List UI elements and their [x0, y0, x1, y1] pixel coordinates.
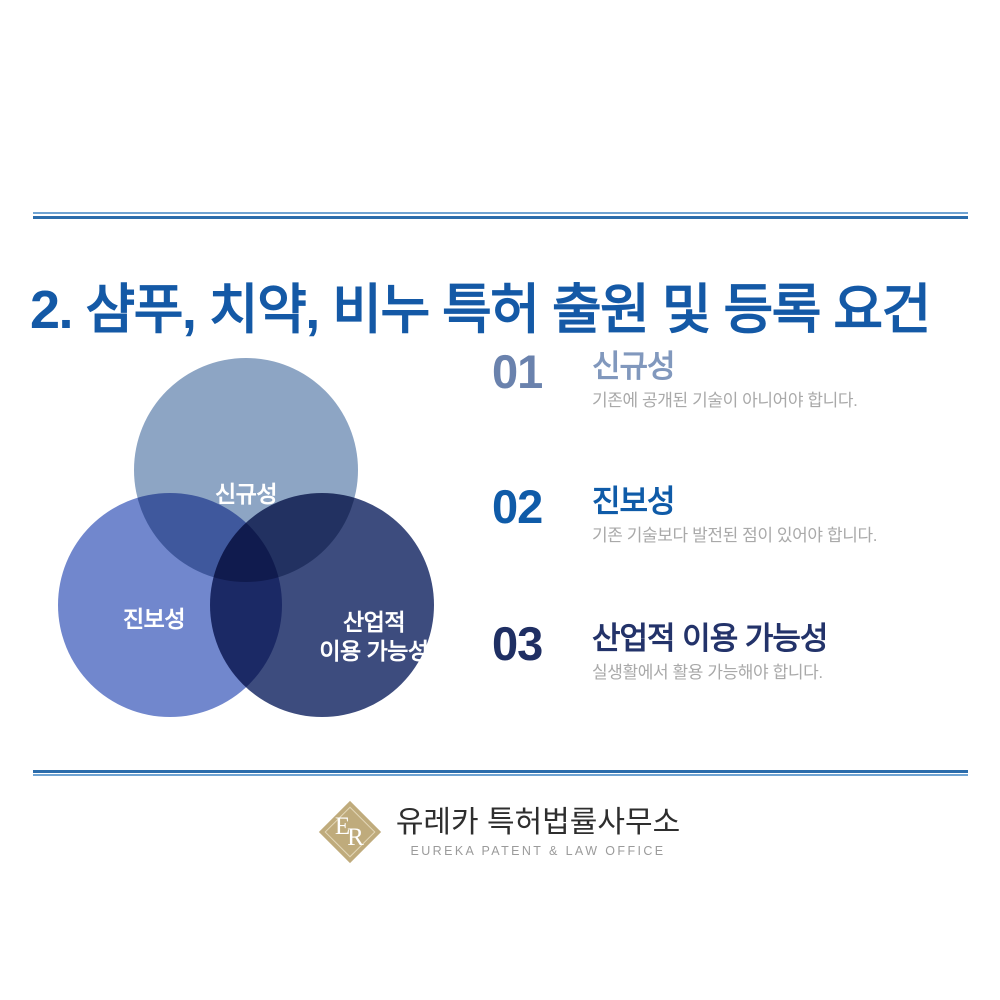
logo-text-block: 유레카 특허법률사무소 EUREKA PATENT & LAW OFFICE	[396, 806, 680, 858]
footer-logo: ER 유레카 특허법률사무소 EUREKA PATENT & LAW OFFIC…	[0, 802, 1000, 862]
venn-circle-industrial: 산업적이용 가능성	[210, 493, 434, 717]
divider-bottom	[33, 770, 968, 779]
venn-label-industrial: 산업적이용 가능성	[293, 592, 402, 650]
divider-bottom-thin-rule	[33, 774, 968, 776]
list-item-number: 02	[492, 483, 592, 530]
divider-bottom-thick-rule	[33, 770, 968, 773]
list-item-title: 진보성	[592, 484, 962, 520]
slide-canvas: 2. 샴푸, 치약, 비누 특허 출원 및 등록 요건 신규성 진보성 산업적이…	[0, 0, 1000, 1000]
list-item-body: 진보성 기존 기술보다 발전된 점이 있어야 합니다.	[592, 483, 962, 547]
divider-top	[33, 212, 968, 221]
list-item-title: 산업적 이용 가능성	[592, 621, 962, 657]
list-item-novelty: 01 신규성 기존에 공개된 기술이 아니어야 합니다.	[492, 348, 962, 458]
list-item-body: 신규성 기존에 공개된 기술이 아니어야 합니다.	[592, 348, 962, 412]
logo-english-name: EUREKA PATENT & LAW OFFICE	[396, 844, 680, 858]
list-item-number: 01	[492, 348, 592, 395]
venn-label-novelty: 신규성	[215, 480, 277, 509]
venn-label-industrial-line1: 산업적	[343, 609, 405, 635]
venn-label-inventive: 진보성	[123, 605, 185, 634]
page-title: 2. 샴푸, 치약, 비누 특허 출원 및 등록 요건	[30, 279, 970, 341]
divider-top-thick-rule	[33, 216, 968, 219]
logo-monogram: ER	[320, 802, 380, 862]
list-item-description: 기존 기술보다 발전된 점이 있어야 합니다.	[592, 525, 962, 547]
monogram-letter-r: R	[347, 824, 364, 852]
venn-diagram: 신규성 진보성 산업적이용 가능성	[50, 345, 450, 745]
logo-korean-name: 유레카 특허법률사무소	[396, 806, 680, 839]
list-item-inventive-step: 02 진보성 기존 기술보다 발전된 점이 있어야 합니다.	[492, 483, 962, 593]
diamond-logo-icon: ER	[320, 802, 380, 862]
list-item-description: 실생활에서 활용 가능해야 합니다.	[592, 662, 962, 684]
divider-top-thin-rule	[33, 212, 968, 214]
list-item-industrial-applicability: 03 산업적 이용 가능성 실생활에서 활용 가능해야 합니다.	[492, 620, 962, 730]
list-item-number: 03	[492, 620, 592, 667]
venn-label-industrial-line2: 이용 가능성	[319, 638, 428, 664]
list-item-body: 산업적 이용 가능성 실생활에서 활용 가능해야 합니다.	[592, 620, 962, 684]
list-item-description: 기존에 공개된 기술이 아니어야 합니다.	[592, 390, 962, 412]
list-item-title: 신규성	[592, 349, 962, 385]
